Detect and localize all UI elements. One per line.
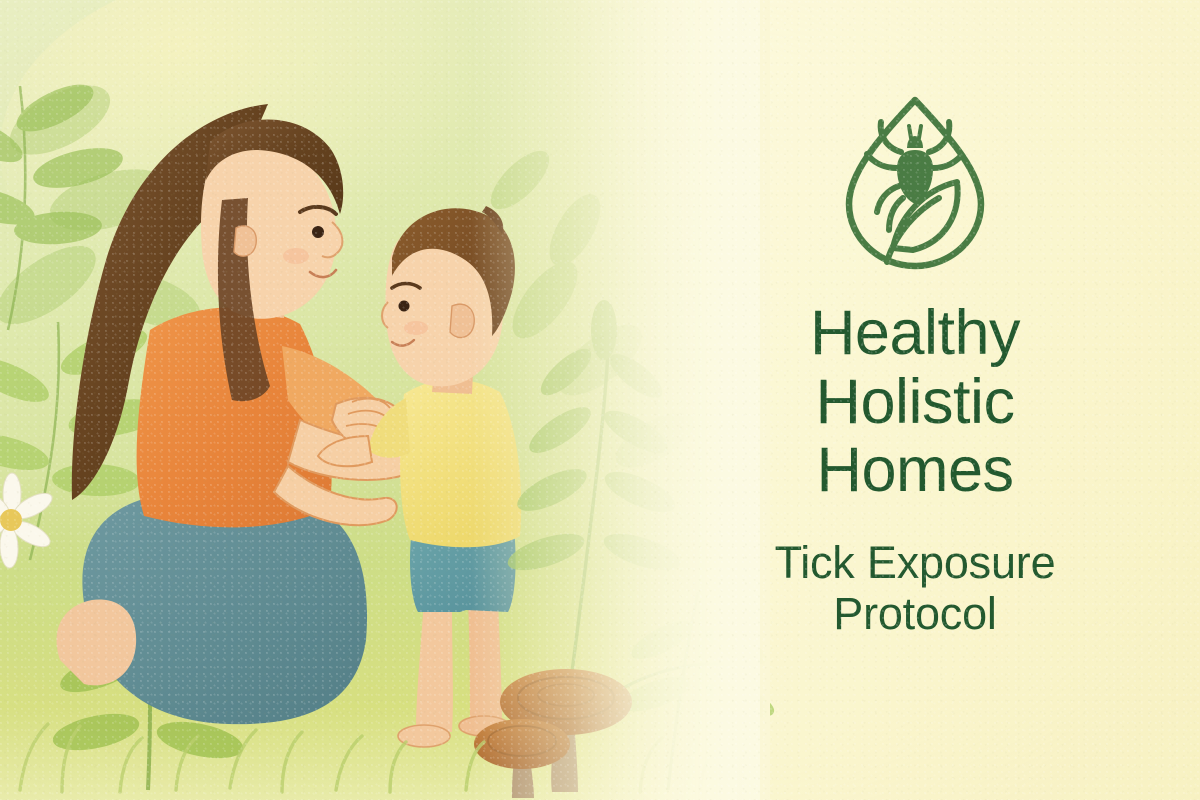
brand-title-line-1: Healthy [810,299,1020,368]
brand-subtitle-line-1: Tick Exposure [775,537,1056,588]
brand-title-line-3: Homes [810,436,1020,505]
brand-subtitle-line-2: Protocol [775,588,1056,639]
brand-subtitle: Tick Exposure Protocol [775,537,1056,640]
tick-in-leaf-droplet-icon [835,92,995,277]
tick-exposure-protocol-banner: Healthy Holistic Homes Tick Exposure Pro… [0,0,1200,800]
brand-title: Healthy Holistic Homes [810,299,1020,505]
brand-title-line-2: Holistic [810,368,1020,437]
brand-panel: Healthy Holistic Homes Tick Exposure Pro… [630,0,1200,800]
